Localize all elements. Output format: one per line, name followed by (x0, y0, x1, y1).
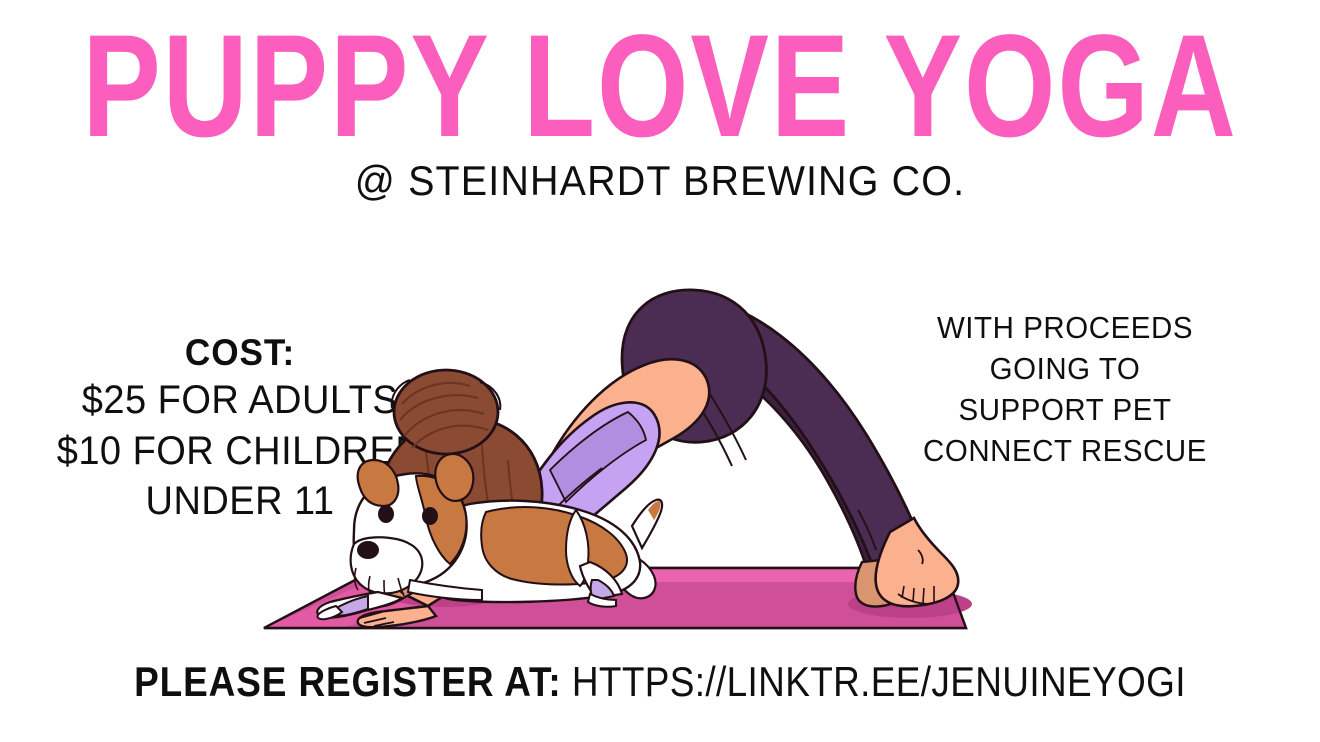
puppy-eye-right (422, 507, 438, 525)
yoga-illustration (250, 262, 990, 642)
register-line: PLEASE REGISTER AT: HTTPS://LINKTR.EE/JE… (79, 660, 1241, 704)
page-title: PUPPY LOVE YOGA (53, 14, 1267, 160)
yoga-illustration-svg (250, 262, 990, 642)
venue-subtitle: @ STEINHARDT BREWING CO. (40, 158, 1281, 204)
poster-canvas: PUPPY LOVE YOGA @ STEINHARDT BREWING CO.… (0, 0, 1320, 742)
puppy-eye-left (378, 505, 394, 523)
register-label: PLEASE REGISTER AT: (134, 658, 561, 705)
register-url[interactable]: HTTPS://LINKTR.EE/JENUINEYOGI (572, 658, 1186, 705)
